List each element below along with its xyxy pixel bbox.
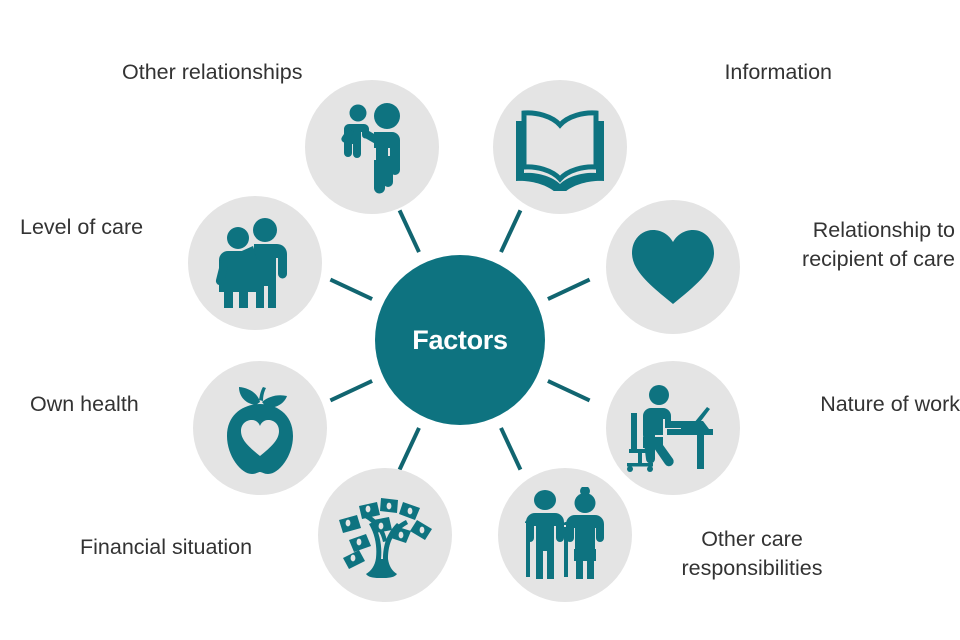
parent-lifting-child-icon [329,100,415,194]
spoke-relationship-to-recipient-of-care [548,280,590,299]
spoke-financial-situation [400,428,419,470]
diagram-canvas: Factors Other relationships [0,0,960,640]
spoke-other-care-responsibilities [501,428,520,470]
elderly-couple-icon [517,487,613,583]
center-hub[interactable]: Factors [375,255,545,425]
node-level-of-care[interactable] [188,196,322,330]
node-other-care-responsibilities[interactable] [498,468,632,602]
label-nature-of-work: Nature of work [760,390,960,419]
heart-icon [629,228,717,306]
label-other-care-responsibilities: Other care responsibilities [652,525,852,583]
spoke-own-health [330,381,372,400]
node-other-relationships[interactable] [305,80,439,214]
open-book-icon [510,103,610,191]
money-tree-icon [335,488,435,582]
node-relationship-to-recipient-of-care[interactable] [606,200,740,334]
spoke-nature-of-work [548,381,590,400]
apple-heart-icon [215,380,305,476]
spoke-level-of-care [330,280,372,299]
node-own-health[interactable] [193,361,327,495]
label-level-of-care: Level of care [20,213,200,242]
label-relationship-to-recipient-of-care: Relationship to recipient of care [755,216,955,274]
spoke-information [501,210,520,252]
node-information[interactable] [493,80,627,214]
center-hub-label: Factors [412,325,507,356]
spoke-other-relationships [400,210,419,252]
couple-embracing-icon [207,216,303,310]
node-financial-situation[interactable] [318,468,452,602]
desk-worker-icon [625,383,721,473]
label-other-relationships: Other relationships [122,58,332,87]
label-financial-situation: Financial situation [80,533,290,562]
label-own-health: Own health [30,390,210,419]
node-nature-of-work[interactable] [606,361,740,495]
label-information: Information [632,58,832,87]
